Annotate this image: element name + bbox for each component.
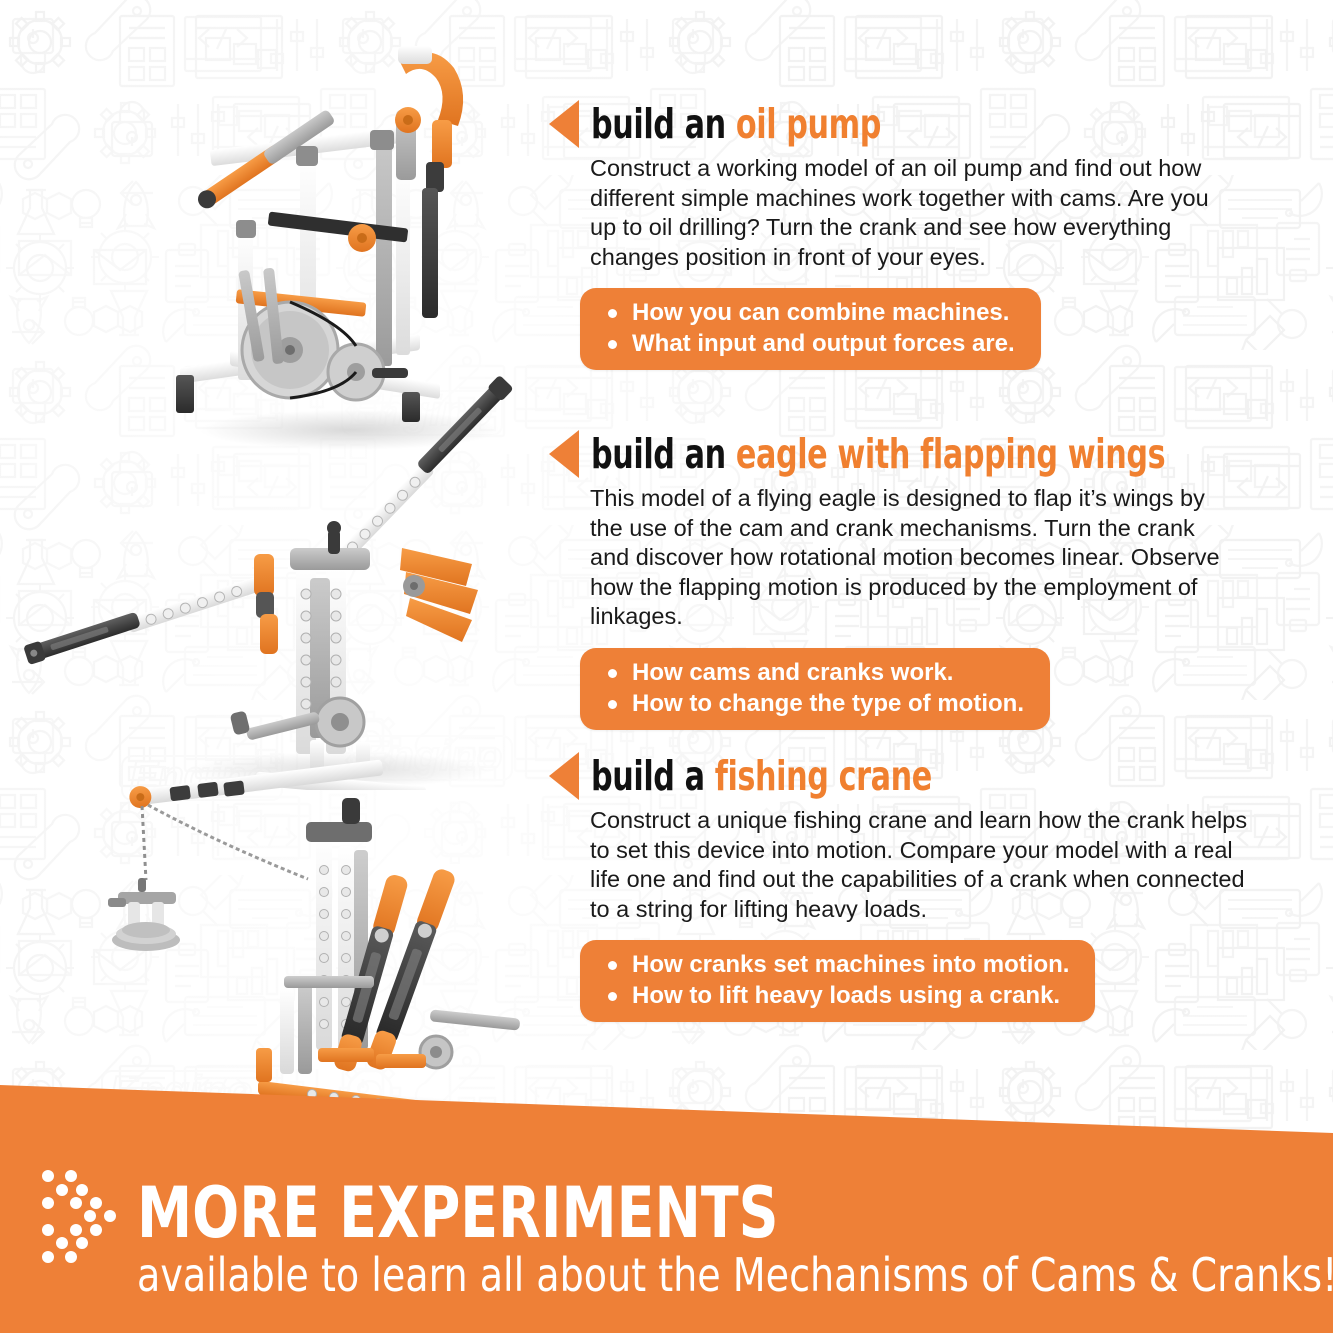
- body-paragraph: Construct a working model of an oil pump…: [590, 154, 1232, 272]
- body-paragraph: Construct a unique fishing crane and lea…: [590, 806, 1266, 924]
- callout-item: How cranks set machines into motion.: [606, 949, 1069, 980]
- triangle-marker-icon: [549, 430, 579, 478]
- callout-box-eagle: How cams and cranks work. How to change …: [580, 648, 1050, 730]
- banner-subtitle: available to learn all about the Mechani…: [137, 1250, 1333, 1300]
- dots-chevron-icon: [38, 1166, 134, 1266]
- callout-item: How cams and cranks work.: [606, 657, 1024, 688]
- heading-text: build a fishing crane: [591, 754, 932, 798]
- callout-item: How to lift heavy loads using a crank.: [606, 980, 1069, 1011]
- section-eagle: build an eagle with flapping wings This …: [549, 430, 1249, 730]
- callout-box-oil-pump: How you can combine machines. What input…: [580, 288, 1041, 370]
- heading-text: build an eagle with flapping wings: [591, 432, 1165, 476]
- callout-box-fishing-crane: How cranks set machines into motion. How…: [580, 940, 1095, 1022]
- callout-list: How cranks set machines into motion. How…: [606, 949, 1069, 1011]
- heading-prefix: build a: [591, 752, 715, 800]
- section-fishing-crane: build a fishing crane Construct a unique…: [549, 752, 1249, 1022]
- heading-prefix: build an: [591, 430, 736, 478]
- heading-highlight: oil pump: [736, 100, 881, 148]
- heading-text: build an oil pump: [591, 102, 881, 146]
- triangle-marker-icon: [549, 100, 579, 148]
- body-paragraph: This model of a flying eagle is designed…: [590, 484, 1232, 632]
- banner-title: MORE EXPERIMENTS: [137, 1177, 779, 1249]
- callout-item: How you can combine machines.: [606, 297, 1015, 328]
- section-oil-pump: build an oil pump Construct a working mo…: [549, 100, 1249, 370]
- section-heading-oil-pump: build an oil pump: [549, 100, 1249, 148]
- callout-item: What input and output forces are.: [606, 328, 1015, 359]
- heading-prefix: build an: [591, 100, 736, 148]
- callout-item: How to change the type of motion.: [606, 688, 1024, 719]
- heading-highlight: eagle with flapping wings: [736, 430, 1165, 478]
- callout-list: How you can combine machines. What input…: [606, 297, 1015, 359]
- callout-list: How cams and cranks work. How to change …: [606, 657, 1024, 719]
- section-heading-fishing-crane: build a fishing crane: [549, 752, 1249, 800]
- section-heading-eagle: build an eagle with flapping wings: [549, 430, 1249, 478]
- triangle-marker-icon: [549, 752, 579, 800]
- heading-highlight: fishing crane: [715, 752, 932, 800]
